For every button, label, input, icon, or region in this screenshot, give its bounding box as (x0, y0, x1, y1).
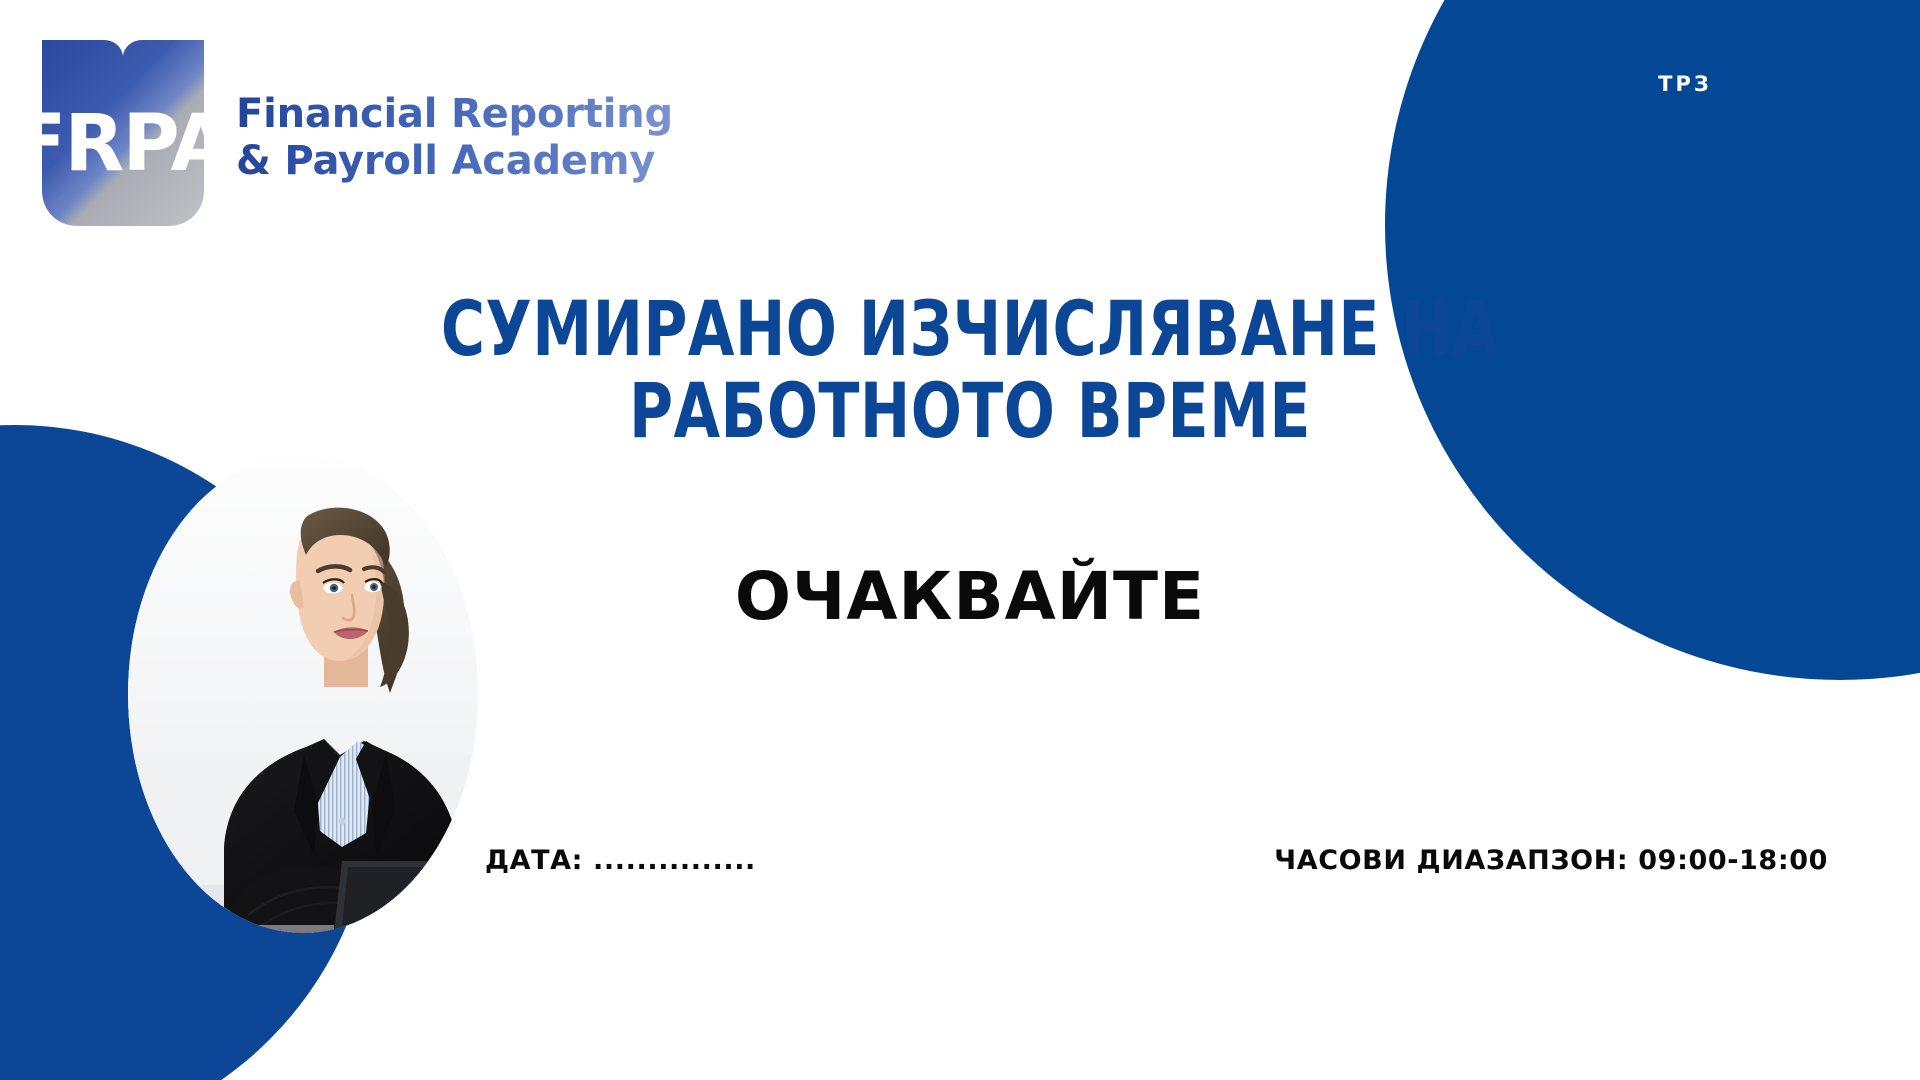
photo-illustration (128, 455, 478, 933)
page-title: СУМИРАНО ИЗЧИСЛЯВАНЕ НА РАБОТНОТО ВРЕМЕ (284, 288, 1657, 452)
brand-logo: FRPA Financial Reporting & Payroll Acade… (28, 22, 673, 232)
brand-logo-line-2: & Payroll Academy (236, 138, 673, 185)
svg-text:FRPA: FRPA (28, 99, 218, 189)
page-title-line-1: СУМИРАНО ИЗЧИСЛЯВАНЕ НА (284, 288, 1657, 370)
brand-logo-line-1: Financial Reporting (236, 91, 673, 138)
badge-trz: ТРЗ (1560, 72, 1810, 96)
presentation-slide: ТРЗ (0, 0, 1920, 1080)
event-date-label: ДАТА: ............... (485, 845, 756, 876)
presenter-photo (128, 455, 478, 933)
brand-logo-text: Financial Reporting & Payroll Academy (236, 91, 673, 185)
page-subtitle: ОЧАКВАЙТЕ (460, 558, 1480, 635)
frpa-logo-icon: FRPA (28, 22, 218, 232)
event-hours-label: ЧАСОВИ ДИАЗАПЗОН: 09:00-18:00 (1274, 845, 1828, 876)
page-title-line-2: РАБОТНОТО ВРЕМЕ (284, 370, 1657, 452)
frpa-book-shape-icon: FRPA (28, 22, 218, 232)
